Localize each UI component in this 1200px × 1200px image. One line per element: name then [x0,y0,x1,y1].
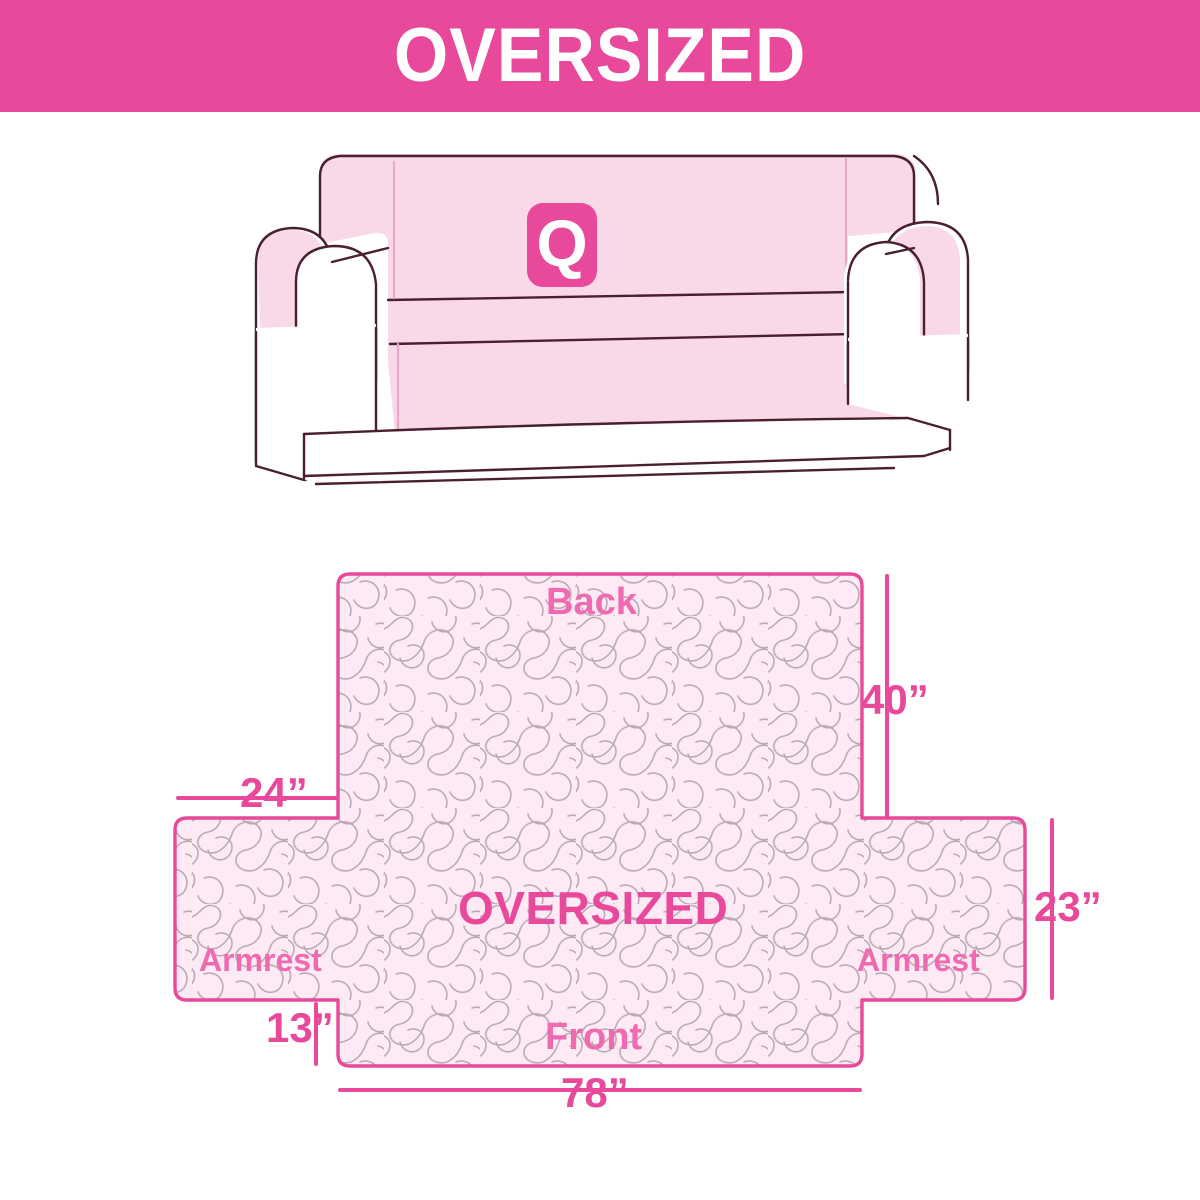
diagram-center-label: OVERSIZED [458,885,728,931]
sofa-illustration: .fillpink { fill:#f9d9e8; } .fillwhite{ … [248,132,972,522]
measurement-back-height: 40” [861,679,929,721]
panel-label-back: Back [546,583,637,621]
measurement-armrest-depth: 23” [1034,886,1102,928]
measurement-armrest-width: 24” [240,772,308,814]
size-guide-infographic: OVERSIZED .fillpink { fill:#f9d9e8; } .f… [0,0,1200,1200]
panel-label-armrest-left: Armrest [199,944,322,976]
logo-letter: Q [536,210,587,276]
panel-label-front: Front [545,1018,642,1056]
measurement-front-height: 13” [266,1007,334,1049]
header-banner: OVERSIZED [0,0,1200,112]
brand-logo-badge: Q [527,203,597,287]
page-title: OVERSIZED [394,18,806,94]
panel-label-armrest-right: Armrest [857,944,980,976]
measurement-overall-width: 78” [561,1072,629,1114]
